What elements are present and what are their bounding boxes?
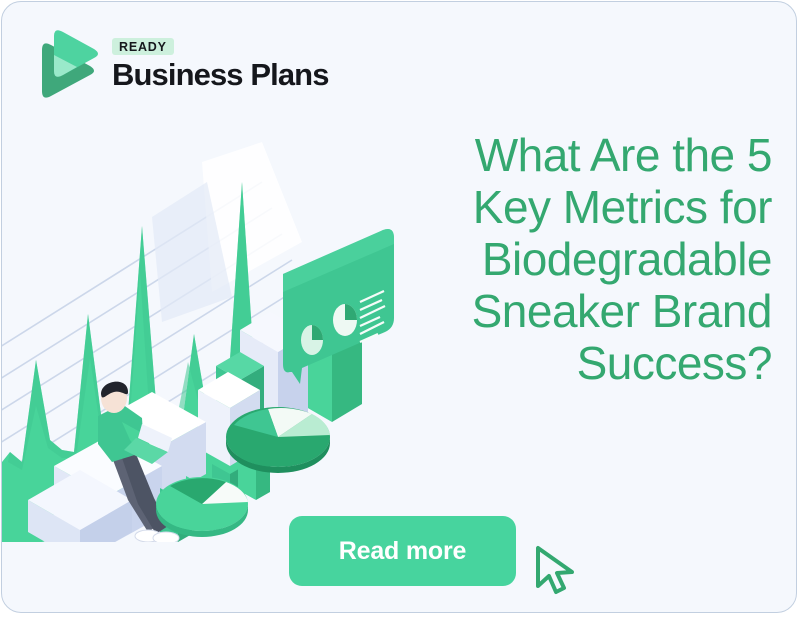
brand-logo-lockup[interactable]: READY Business Plans [32,28,329,102]
headline-line-1: What Are the 5 [392,130,772,182]
isometric-pie-chart-small [156,477,248,537]
page-title: What Are the 5 Key Metrics for Biodegrad… [392,130,772,390]
isometric-pie-chart-large [226,407,330,473]
illustration-artwork [2,122,422,542]
illustration-svg [2,122,422,542]
headline-line-4: Sneaker Brand [392,286,772,338]
brand-wordmark: Business Plans [112,59,329,92]
logo-text-block: READY Business Plans [112,38,329,92]
headline-line-2: Key Metrics for [392,182,772,234]
cta-row: Read more [289,516,586,586]
read-more-button[interactable]: Read more [289,516,516,586]
promo-banner: READY Business Plans What Are the 5 Key … [1,1,797,613]
ready-badge: READY [112,38,174,56]
mouse-pointer-arrow-icon [530,542,586,602]
headline-line-3: Biodegradable [392,234,772,286]
headline-line-5: Success? [392,338,772,390]
play-triangle-logo-icon [32,28,98,102]
